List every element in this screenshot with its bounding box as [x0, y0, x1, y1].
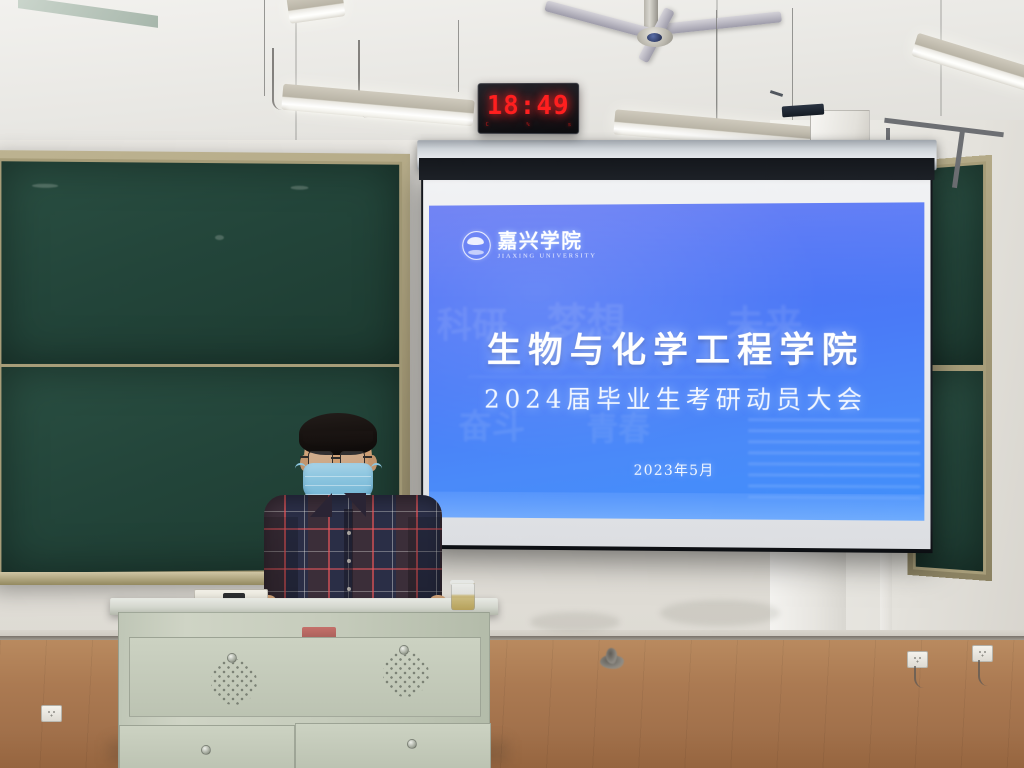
- power-cable: [978, 660, 991, 686]
- clock-mid-label: %: [526, 122, 529, 128]
- lectern-podium: [118, 598, 490, 768]
- clock-left-label: C: [486, 122, 489, 128]
- power-cable: [914, 666, 928, 688]
- presenter: [258, 413, 448, 628]
- podium-drawer-lock[interactable]: [407, 739, 417, 749]
- light-suspension-wire: [716, 10, 717, 120]
- chalkboard-panel-top: [0, 158, 402, 367]
- wall-led-clock: 18:49 C % s: [478, 83, 579, 134]
- logo-text-group: 嘉兴学院 JIAXING UNIVERSITY: [498, 230, 597, 260]
- podium-drawer-lock[interactable]: [201, 745, 211, 755]
- podium-speaker-grille: [383, 651, 429, 697]
- slide-bottom-band: [429, 492, 924, 521]
- presenter-hair: [299, 413, 377, 455]
- slide-subtitle: 2024届毕业生考研动员大会: [429, 380, 924, 417]
- podium-speaker-grille: [211, 659, 257, 705]
- shirt-button: [347, 587, 351, 591]
- slide-date: 2023年5月: [429, 459, 924, 481]
- slide-title: 生物与化学工程学院: [429, 322, 924, 374]
- eyeglasses-bridge: [331, 457, 340, 459]
- projection-screen-surface: 科研 梦想 未来 奋斗 青春 嘉兴学院 JIAXING UNIVERSITY 生…: [423, 174, 930, 549]
- clock-right-label: s: [568, 122, 571, 128]
- projection-screen: 科研 梦想 未来 奋斗 青春 嘉兴学院 JIAXING UNIVERSITY 生…: [421, 164, 932, 553]
- slide-university-logo: 嘉兴学院 JIAXING UNIVERSITY: [462, 230, 597, 260]
- eyeglasses-temple: [300, 456, 309, 458]
- podium-cabinet: [118, 612, 490, 768]
- podium-lock[interactable]: [227, 653, 237, 663]
- university-emblem-icon: [462, 231, 490, 260]
- classroom-scene: 18:49 C % s 科研 梦想 未来 奋斗 青春: [0, 0, 1024, 768]
- wall-damage-patch: [606, 648, 617, 664]
- slide-watermark-streak: [468, 376, 766, 378]
- tea-glass: [451, 583, 475, 611]
- logo-chinese-name: 嘉兴学院: [498, 230, 597, 250]
- clock-secondary-display: C % s: [486, 122, 572, 128]
- projection-screen-case-shadow: [419, 158, 934, 180]
- logo-english-name: JIAXING UNIVERSITY: [498, 253, 597, 260]
- podium-lock[interactable]: [399, 645, 409, 655]
- presentation-slide: 科研 梦想 未来 奋斗 青春 嘉兴学院 JIAXING UNIVERSITY 生…: [429, 202, 924, 520]
- shirt-button: [347, 559, 351, 563]
- shirt-button: [347, 531, 351, 535]
- shirt-collar-left: [310, 493, 332, 517]
- wall-power-outlet[interactable]: [41, 705, 62, 722]
- light-suspension-wire: [458, 20, 459, 92]
- clock-time-display: 18:49: [479, 91, 578, 121]
- slide-watermark-block: [748, 412, 920, 499]
- tea-glass-lid: [450, 580, 474, 585]
- podium-drawer-right[interactable]: [295, 723, 491, 768]
- fan-motor-housing: [637, 27, 673, 47]
- light-suspension-wire: [792, 8, 793, 120]
- light-suspension-wire: [264, 0, 265, 96]
- wall-smudge: [530, 612, 620, 632]
- eyeglasses-temple: [363, 456, 372, 458]
- wall-smudge: [660, 600, 780, 626]
